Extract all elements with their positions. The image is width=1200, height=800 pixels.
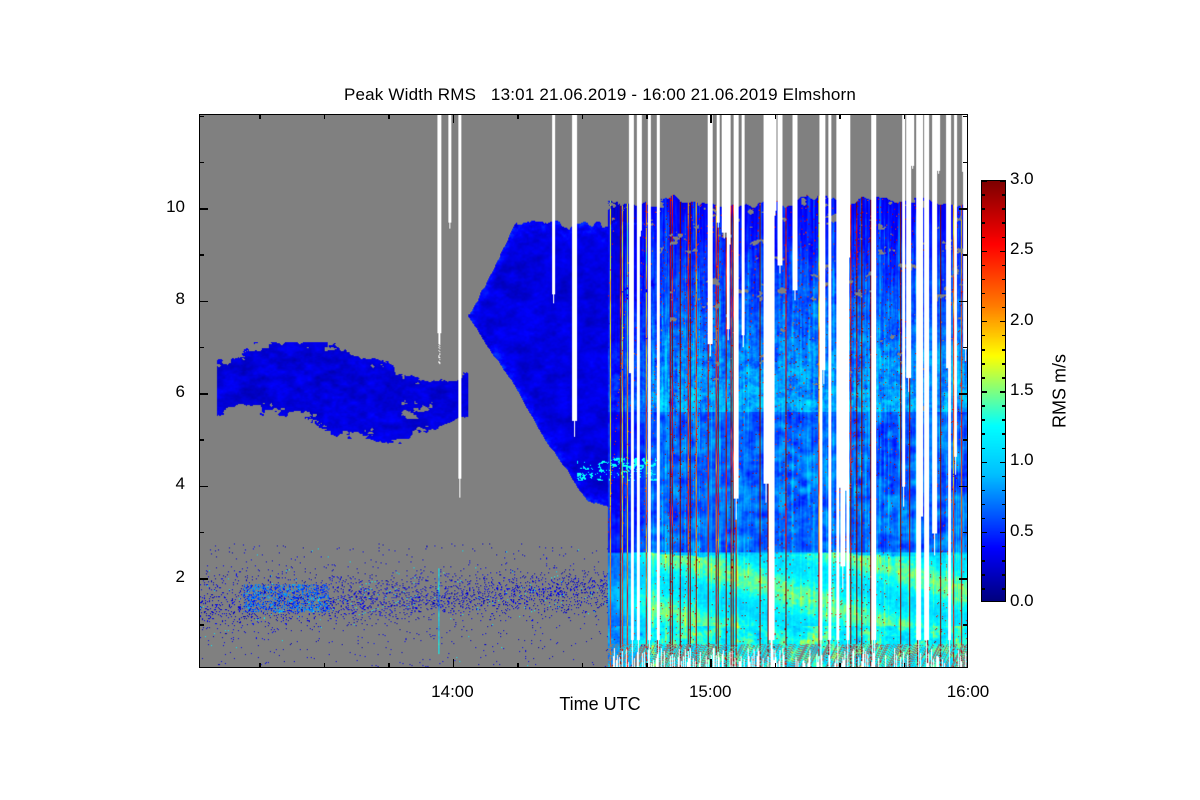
colorbar-label: RMS m/s [1050,354,1071,428]
y-tick [959,578,968,580]
x-tick [259,114,261,119]
heatmap-image [200,115,967,667]
colorbar-tick [1002,588,1005,590]
colorbar-tick [982,293,985,295]
colorbar-tick [1000,532,1005,534]
colorbar-tick [982,222,985,224]
y-tick [199,578,208,580]
colorbar-tick [982,251,987,253]
colorbar-tick [982,279,985,281]
colorbar-tick [982,180,987,182]
y-tick [199,162,204,164]
colorbar-tick [982,391,987,393]
colorbar-tick [1000,321,1005,323]
colorbar-tick [982,363,985,365]
colorbar-tick [1000,251,1005,253]
colorbar-tick [1002,433,1005,435]
y-tick [963,116,968,118]
x-tick [388,114,390,119]
colorbar-tick [1002,265,1005,267]
colorbar-tick [982,237,985,239]
colorbar-tick [1002,208,1005,210]
colorbar-tick [982,490,985,492]
colorbar-tick [1002,307,1005,309]
x-tick [324,114,326,119]
colorbar-tick [1002,448,1005,450]
colorbar-tick [1000,462,1005,464]
colorbar-tick [1002,405,1005,407]
colorbar-tick [1002,504,1005,506]
colorbar-tick [1002,560,1005,562]
colorbar-tick [1002,574,1005,576]
colorbar-tick [982,574,985,576]
y-tick [959,301,968,303]
colorbar-tick [982,349,985,351]
y-tick [963,162,968,164]
y-tick [959,486,968,488]
plot-area[interactable] [199,114,968,668]
figure-canvas: Peak Width RMS 13:01 21.06.2019 - 16:00 … [0,0,1200,800]
colorbar-tick [982,194,985,196]
x-tick [582,114,584,119]
x-tick [453,659,455,668]
colorbar-tick [982,405,985,407]
colorbar-tick [982,321,987,323]
y-tick [199,116,204,118]
y-tick [199,301,208,303]
x-tick [904,114,906,119]
colorbar-tick-label: 2.0 [1010,310,1034,330]
x-tick [775,114,777,119]
colorbar-tick [982,335,985,337]
colorbar-tick [982,448,985,450]
colorbar-tick [982,504,985,506]
y-tick [963,532,968,534]
colorbar-tick [1002,363,1005,365]
colorbar-tick [1000,180,1005,182]
colorbar-tick [1002,518,1005,520]
x-tick [453,114,455,123]
colorbar-tick [982,546,985,548]
y-tick [963,347,968,349]
colorbar-tick [982,419,985,421]
colorbar-tick [982,462,987,464]
y-tick-label: 10 [0,197,185,217]
colorbar-tick-label: 1.0 [1010,450,1034,470]
y-tick [963,624,968,626]
colorbar-tick [982,433,985,435]
y-tick [199,208,208,210]
colorbar-tick [1002,349,1005,351]
y-tick [959,208,968,210]
y-tick [199,439,204,441]
colorbar[interactable] [981,180,1006,602]
colorbar-tick [1002,194,1005,196]
colorbar-tick-label: 0.0 [1010,591,1034,611]
colorbar-tick [982,377,985,379]
y-tick [959,393,968,395]
colorbar-tick [1002,237,1005,239]
x-tick [839,114,841,119]
colorbar-tick [982,265,985,267]
y-tick-label: 6 [0,382,185,402]
colorbar-tick [1000,391,1005,393]
colorbar-tick [1002,222,1005,224]
colorbar-tick [982,588,985,590]
x-axis-label: Time UTC [0,694,1200,715]
y-tick [199,393,208,395]
colorbar-tick [982,208,985,210]
colorbar-tick [982,532,987,534]
colorbar-tick [1002,279,1005,281]
colorbar-tick-label: 3.0 [1010,169,1034,189]
colorbar-tick-label: 2.5 [1010,239,1034,259]
chart-title: Peak Width RMS 13:01 21.06.2019 - 16:00 … [0,85,1200,105]
colorbar-tick [982,307,985,309]
colorbar-tick [1002,293,1005,295]
x-tick [517,114,519,119]
colorbar-tick-label: 0.5 [1010,521,1034,541]
y-tick [199,624,204,626]
y-tick [963,254,968,256]
colorbar-tick [1002,335,1005,337]
y-tick [963,439,968,441]
y-tick-label: 8 [0,289,185,309]
colorbar-tick [1002,490,1005,492]
y-tick [199,254,204,256]
colorbar-tick [1002,377,1005,379]
y-tick [199,486,208,488]
y-tick [199,347,204,349]
colorbar-tick-label: 1.5 [1010,380,1034,400]
y-tick-label: 2 [0,567,185,587]
colorbar-tick [982,560,985,562]
x-tick [646,114,648,119]
y-tick-label: 4 [0,474,185,494]
colorbar-tick [982,476,985,478]
colorbar-tick [1002,546,1005,548]
colorbar-tick [982,518,985,520]
y-tick [199,532,204,534]
x-tick [710,114,712,123]
colorbar-tick [1002,476,1005,478]
x-tick [710,659,712,668]
colorbar-tick [1002,419,1005,421]
